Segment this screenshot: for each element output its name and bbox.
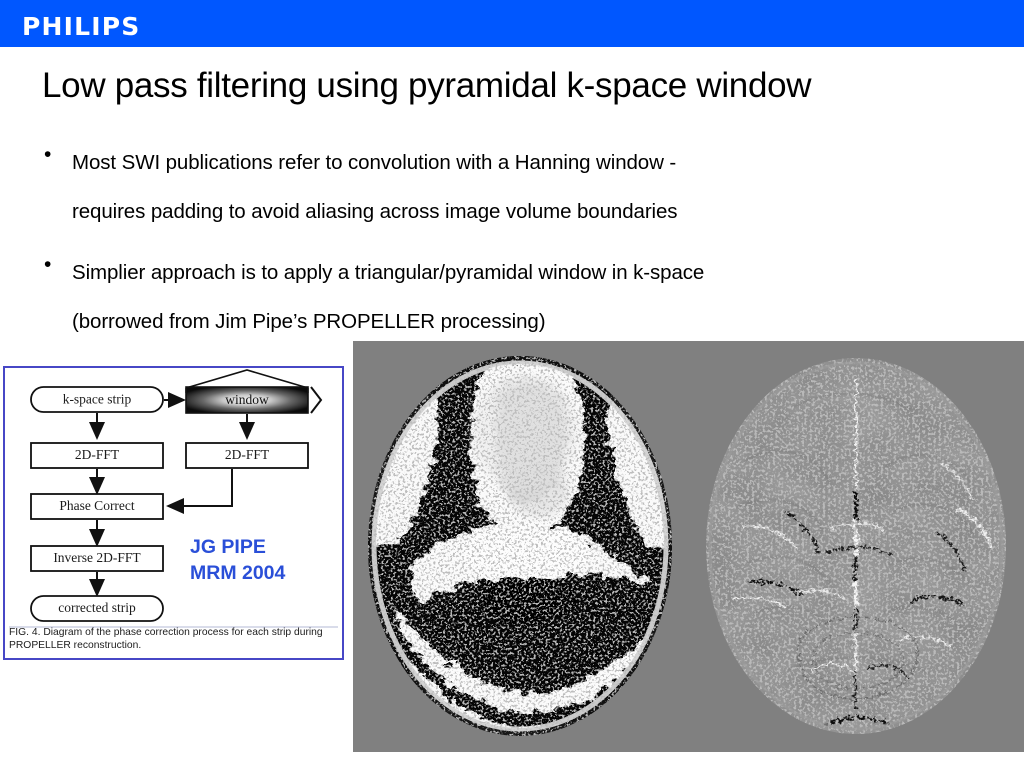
figure-caption-line-2: PROPELLER reconstruction. [9, 639, 341, 652]
raw-phase-image [353, 341, 688, 752]
high-pass-filtered-phase-image [689, 341, 1024, 752]
philips-logo: PHILIPS [22, 12, 141, 41]
citation-line-1: JG PIPE [190, 534, 285, 560]
bullet-1-line-2: requires padding to avoid aliasing acros… [72, 187, 1000, 236]
citation-jg-pipe: JG PIPE MRM 2004 [190, 534, 285, 586]
bullet-item-2: • Simplier approach is to apply a triang… [40, 248, 1000, 346]
node-label-phase-correct: Phase Correct [59, 498, 135, 513]
node-fft-left: 2D-FFT [31, 443, 163, 468]
node-fft-right: 2D-FFT [186, 443, 308, 468]
philips-banner: PHILIPS [0, 0, 1024, 47]
arrow-fft-right-to-phase-correct [169, 469, 232, 506]
page-title: Low pass filtering using pyramidal k-spa… [42, 66, 1022, 106]
node-label-k-space-strip: k-space strip [63, 392, 132, 407]
flowchart-svg: k-space strip window 2D-FFT 2D-FFT [5, 368, 342, 658]
bullet-1-line-1: Most SWI publications refer to convoluti… [72, 138, 676, 187]
figure-caption-line-1: FIG. 4. Diagram of the phase correction … [9, 626, 341, 639]
node-window: window [186, 387, 321, 413]
bullet-item-1: • Most SWI publications refer to convolu… [40, 138, 1000, 236]
node-corrected-strip: corrected strip [31, 596, 163, 621]
node-phase-correct: Phase Correct [31, 494, 163, 519]
node-label-window: window [225, 392, 269, 407]
node-label-fft-right: 2D-FFT [225, 447, 270, 462]
figure-caption: FIG. 4. Diagram of the phase correction … [9, 626, 341, 652]
bullet-2-line-1: Simplier approach is to apply a triangul… [72, 248, 704, 297]
node-label-fft-left: 2D-FFT [75, 447, 120, 462]
bullet-marker-icon: • [40, 248, 72, 282]
mri-image-panel [353, 341, 1024, 752]
node-k-space-strip: k-space strip [31, 387, 163, 412]
bullet-2-line-2: (borrowed from Jim Pipe’s PROPELLER proc… [72, 297, 1000, 346]
node-label-corrected-strip: corrected strip [58, 600, 136, 615]
propeller-flowchart-figure: k-space strip window 2D-FFT 2D-FFT [3, 366, 344, 660]
node-label-inverse-fft: Inverse 2D-FFT [53, 550, 141, 565]
node-inverse-fft: Inverse 2D-FFT [31, 546, 163, 571]
bullet-marker-icon: • [40, 138, 72, 172]
citation-line-2: MRM 2004 [190, 560, 285, 586]
